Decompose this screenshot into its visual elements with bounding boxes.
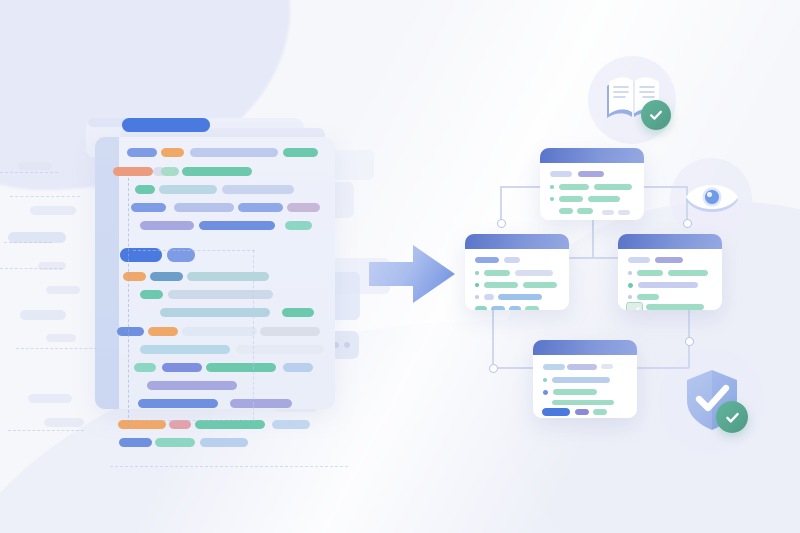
code-dash-guide bbox=[10, 196, 80, 197]
code-token bbox=[148, 327, 178, 336]
code-token bbox=[119, 438, 152, 447]
code-token bbox=[134, 363, 156, 372]
code-dash-guide bbox=[110, 466, 348, 467]
code-token bbox=[169, 420, 191, 429]
connector-dot-bottom-left bbox=[489, 364, 498, 373]
book-icon bbox=[603, 72, 665, 128]
code-token bbox=[182, 167, 252, 176]
field bbox=[484, 270, 510, 276]
code-token-ghost bbox=[28, 394, 72, 403]
code-token bbox=[222, 185, 294, 194]
region-guide-top bbox=[133, 250, 255, 251]
field bbox=[475, 306, 487, 310]
card-right-body bbox=[618, 249, 722, 310]
field bbox=[559, 208, 573, 214]
code-token bbox=[190, 148, 278, 157]
code-token bbox=[127, 148, 157, 157]
code-token-ghost bbox=[46, 334, 76, 342]
code-token bbox=[206, 363, 276, 372]
code-token-ghost bbox=[46, 286, 80, 294]
code-token bbox=[162, 363, 202, 372]
field bbox=[637, 294, 659, 300]
field bbox=[567, 364, 597, 370]
code-token bbox=[122, 118, 210, 132]
code-token bbox=[150, 272, 183, 281]
bullet bbox=[550, 197, 554, 201]
card-top-header bbox=[540, 148, 644, 163]
card-right-header bbox=[618, 234, 722, 249]
code-token bbox=[187, 272, 269, 281]
code-dash-guide bbox=[8, 430, 84, 431]
code-token bbox=[272, 420, 310, 429]
field bbox=[559, 184, 589, 190]
code-token bbox=[161, 167, 179, 176]
bullet bbox=[475, 295, 479, 299]
field bbox=[552, 400, 614, 405]
field bbox=[601, 364, 613, 369]
code-dash-guide bbox=[0, 268, 62, 269]
field bbox=[498, 294, 542, 300]
field bbox=[504, 257, 520, 263]
code-token bbox=[182, 327, 257, 336]
field bbox=[602, 210, 614, 215]
shield-check-badge bbox=[716, 401, 748, 433]
connector-top-to-left-h bbox=[500, 186, 544, 188]
card-bottom-header bbox=[533, 340, 637, 355]
connector-right-to-bottom-h bbox=[637, 367, 689, 369]
code-token bbox=[159, 185, 217, 194]
code-token bbox=[260, 327, 320, 336]
field bbox=[550, 171, 572, 177]
code-dash-guide bbox=[16, 348, 102, 349]
bullet bbox=[628, 271, 632, 275]
eye-icon bbox=[684, 178, 740, 218]
code-token bbox=[118, 420, 166, 429]
field bbox=[655, 257, 683, 263]
checkbox-checked[interactable] bbox=[626, 302, 643, 310]
field bbox=[575, 409, 589, 415]
code-token bbox=[140, 290, 163, 299]
field bbox=[628, 257, 650, 263]
field bbox=[515, 270, 553, 276]
code-token-ghost bbox=[18, 162, 52, 170]
card-left-body bbox=[465, 249, 569, 310]
code-block bbox=[0, 0, 420, 533]
field bbox=[484, 282, 518, 288]
connector-left-to-bottom-h bbox=[492, 367, 536, 369]
code-token bbox=[117, 327, 144, 336]
code-token bbox=[282, 308, 314, 317]
connector-dot-right bbox=[683, 219, 692, 228]
code-token bbox=[140, 345, 230, 354]
field bbox=[475, 257, 499, 263]
bullet bbox=[543, 390, 548, 395]
field bbox=[578, 171, 604, 177]
code-dash-guide bbox=[4, 242, 52, 243]
region-guide-bottom bbox=[133, 420, 255, 421]
card-top[interactable] bbox=[540, 148, 644, 220]
field bbox=[588, 196, 620, 202]
code-token bbox=[135, 185, 155, 194]
dot-3 bbox=[344, 342, 350, 348]
bullet bbox=[628, 283, 633, 288]
bullet bbox=[543, 378, 547, 382]
code-token bbox=[140, 221, 194, 230]
connector-top-to-left-v bbox=[500, 186, 502, 222]
field bbox=[552, 377, 610, 383]
field bbox=[638, 282, 698, 288]
code-token bbox=[200, 438, 248, 447]
code-token bbox=[168, 290, 273, 299]
bullet bbox=[628, 295, 632, 299]
card-bottom-body bbox=[533, 355, 637, 418]
code-token-ghost bbox=[44, 418, 84, 427]
code-dash-guide bbox=[0, 172, 58, 173]
field bbox=[618, 210, 630, 215]
code-token bbox=[230, 399, 292, 408]
book-check-badge bbox=[641, 100, 671, 130]
field bbox=[523, 282, 557, 288]
code-token bbox=[283, 148, 318, 157]
code-token bbox=[238, 203, 283, 212]
card-top-body bbox=[540, 163, 644, 220]
field bbox=[525, 306, 539, 310]
connector-top-down-v bbox=[592, 220, 594, 258]
code-token bbox=[199, 221, 275, 230]
indent-guide-2 bbox=[253, 250, 254, 420]
card-right[interactable] bbox=[618, 234, 722, 310]
field bbox=[559, 196, 583, 202]
code-token bbox=[138, 399, 218, 408]
field bbox=[577, 208, 593, 214]
code-token bbox=[131, 203, 166, 212]
illustration-canvas bbox=[0, 0, 800, 533]
code-token bbox=[283, 363, 313, 372]
field bbox=[553, 389, 597, 395]
code-token bbox=[285, 221, 312, 230]
card-left-header bbox=[465, 234, 569, 249]
code-token-ghost bbox=[20, 310, 66, 320]
code-token bbox=[287, 203, 320, 212]
shield-icon bbox=[683, 368, 741, 432]
field bbox=[491, 306, 505, 310]
card-bottom[interactable] bbox=[533, 340, 637, 418]
field bbox=[593, 409, 607, 415]
connector-dot-bottom-right bbox=[685, 337, 694, 346]
bullet bbox=[475, 283, 479, 287]
field bbox=[484, 294, 494, 300]
line-number-gutter bbox=[95, 137, 119, 409]
connector-top-to-right-h bbox=[644, 186, 688, 188]
connector-dot-left bbox=[497, 219, 506, 228]
code-token bbox=[123, 272, 146, 281]
connector-left-down-v bbox=[492, 310, 494, 368]
architecture-diagram bbox=[440, 0, 800, 533]
code-token bbox=[161, 148, 184, 157]
field bbox=[646, 304, 704, 310]
card-left[interactable] bbox=[465, 234, 569, 310]
code-token-ghost bbox=[30, 206, 76, 215]
bullet bbox=[475, 271, 479, 275]
field bbox=[637, 270, 663, 276]
field bbox=[668, 270, 708, 276]
code-token bbox=[195, 420, 265, 429]
code-token bbox=[155, 438, 195, 447]
code-token bbox=[236, 345, 324, 354]
field bbox=[543, 364, 565, 370]
bullet bbox=[550, 185, 554, 189]
code-token bbox=[147, 381, 237, 390]
code-token bbox=[113, 167, 153, 176]
primary-button[interactable] bbox=[542, 408, 570, 416]
connector-mid-h bbox=[569, 257, 619, 259]
field bbox=[594, 184, 632, 190]
indent-guide-1 bbox=[128, 178, 129, 428]
code-token bbox=[174, 203, 234, 212]
field bbox=[509, 306, 521, 310]
